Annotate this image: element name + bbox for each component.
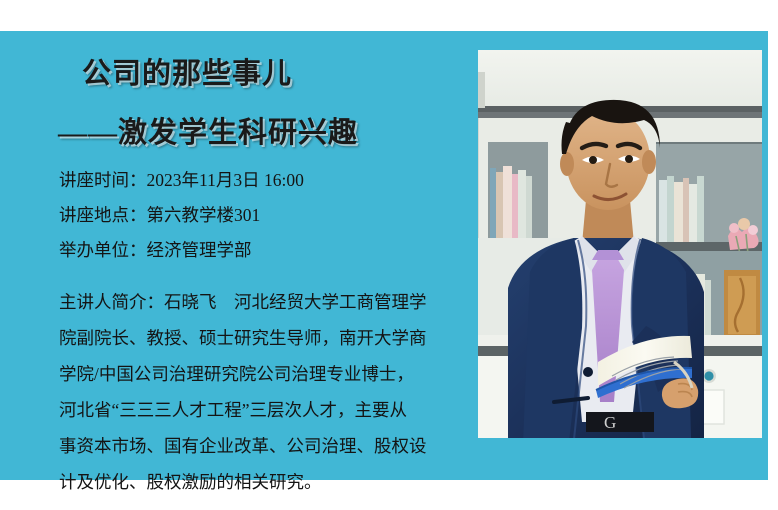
speaker-photo: G: [478, 50, 762, 438]
bio-line: 河北省“三三三人才工程”三层次人才，主要从: [59, 392, 463, 428]
info-line-location: 讲座地点：第六教学楼301: [59, 198, 469, 233]
text-column: 公司的那些事儿 ——激发学生科研兴趣 讲座时间：2023年11月3日 16:00…: [0, 31, 470, 480]
page-title: 公司的那些事儿: [82, 60, 292, 89]
bio-line: 计及优化、股权激励的相关研究。: [59, 464, 463, 500]
bio-line: 学院/中国公司治理研究院公司治理专业博士，: [59, 356, 463, 392]
poster-root: 公司的那些事儿 ——激发学生科研兴趣 讲座时间：2023年11月3日 16:00…: [0, 0, 778, 510]
bio-line: 院副院长、教授、硕士研究生导师，南开大学商: [59, 320, 463, 356]
info-block: 讲座时间：2023年11月3日 16:00 讲座地点：第六教学楼301 举办单位…: [59, 163, 469, 268]
info-line-time: 讲座时间：2023年11月3日 16:00: [59, 163, 469, 198]
info-line-organizer: 举办单位：经济管理学部: [59, 233, 469, 268]
page-subtitle: ——激发学生科研兴趣: [58, 119, 358, 148]
speaker-bio-block: 主讲人简介：石晓飞 河北经贸大学工商管理学 院副院长、教授、硕士研究生导师，南开…: [59, 284, 463, 500]
svg-text:G: G: [604, 413, 616, 432]
bio-line: 事资本市场、国有企业改革、公司治理、股权设: [59, 428, 463, 464]
bio-line: 主讲人简介：石晓飞 河北经贸大学工商管理学: [59, 284, 463, 320]
